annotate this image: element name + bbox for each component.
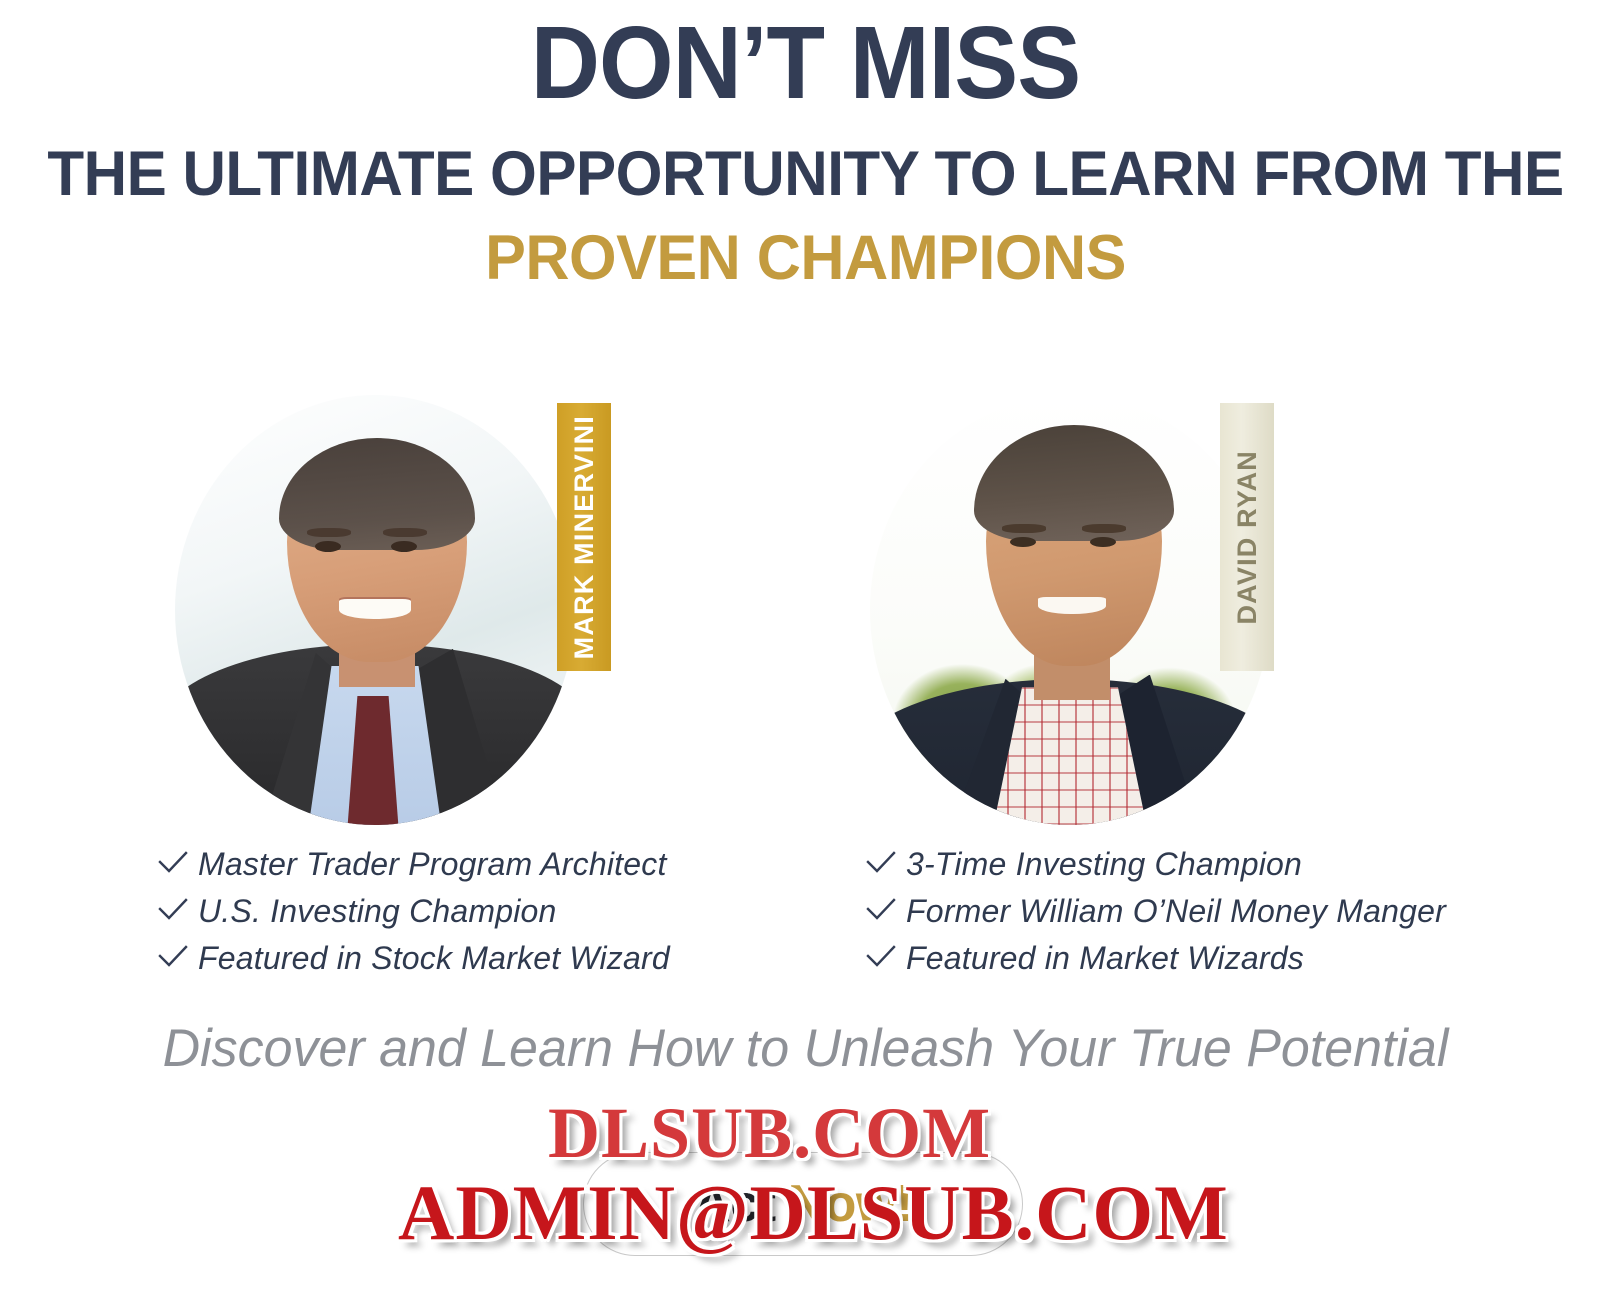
- speaker-name-banner-mark-minervini: MARK MINERVINI: [557, 403, 611, 671]
- check-icon: [158, 939, 198, 969]
- credentials-list-david-ryan: 3-Time Investing Champion Former William…: [866, 845, 1446, 986]
- list-item: Master Trader Program Architect: [158, 845, 670, 892]
- speaker-name-banner-david-ryan: DAVID RYAN: [1220, 403, 1274, 671]
- list-item: 3-Time Investing Champion: [866, 845, 1446, 892]
- headline-line-2: THE ULTIMATE OPPORTUNITY TO LEARN FROM T…: [36, 138, 1575, 210]
- speaker-name-label: MARK MINERVINI: [569, 415, 600, 659]
- credential-text: Featured in Market Wizards: [906, 940, 1304, 977]
- credential-text: Former William O’Neil Money Manger: [906, 893, 1446, 930]
- headline-block: DON’T MISS THE ULTIMATE OPPORTUNITY TO L…: [0, 0, 1611, 294]
- portrait-illustration-mark-minervini: [175, 395, 575, 825]
- credential-text: U.S. Investing Champion: [198, 893, 557, 930]
- check-icon: [866, 939, 906, 969]
- list-item: Former William O’Neil Money Manger: [866, 892, 1446, 939]
- watermark-email: ADMIN@DLSUB.COM: [398, 1168, 1229, 1258]
- headline-line-3: PROVEN CHAMPIONS: [24, 222, 1587, 294]
- speaker-card-david-ryan: DAVID RYAN: [870, 385, 1350, 835]
- check-icon: [866, 892, 906, 922]
- credential-text: Featured in Stock Market Wizard: [198, 940, 670, 977]
- photo-circle-mask: [175, 395, 575, 825]
- speaker-name-label: DAVID RYAN: [1232, 450, 1263, 625]
- speaker-photo-david-ryan: [870, 395, 1270, 825]
- watermark-site: DLSUB.COM: [548, 1092, 991, 1175]
- credential-text: 3-Time Investing Champion: [906, 846, 1302, 883]
- list-item: Featured in Stock Market Wizard: [158, 939, 670, 986]
- speaker-credentials: Master Trader Program Architect U.S. Inv…: [0, 845, 1611, 975]
- check-icon: [158, 845, 198, 875]
- speaker-photo-mark-minervini: [175, 395, 575, 825]
- check-icon: [158, 892, 198, 922]
- tagline: Discover and Learn How to Unleash Your T…: [16, 1018, 1595, 1079]
- list-item: U.S. Investing Champion: [158, 892, 670, 939]
- check-icon: [866, 845, 906, 875]
- credentials-list-mark-minervini: Master Trader Program Architect U.S. Inv…: [158, 845, 670, 986]
- credential-text: Master Trader Program Architect: [198, 846, 667, 883]
- speakers-row: MARK MINERVINI: [0, 385, 1611, 855]
- list-item: Featured in Market Wizards: [866, 939, 1446, 986]
- portrait-illustration-david-ryan: [870, 395, 1270, 825]
- photo-circle-mask: [870, 395, 1270, 825]
- speaker-card-mark-minervini: MARK MINERVINI: [175, 385, 655, 835]
- headline-line-1: DON’T MISS: [56, 8, 1554, 118]
